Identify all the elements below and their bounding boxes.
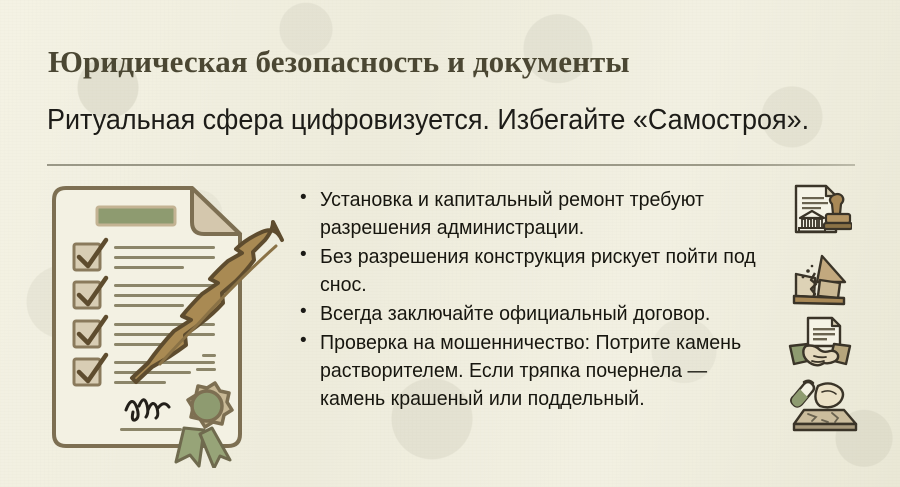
- doc-line: [114, 381, 166, 384]
- document-folded-corner: [192, 188, 240, 234]
- house-base: [794, 296, 844, 304]
- doc-line: [114, 371, 191, 374]
- doc-line: [114, 333, 215, 336]
- list-item: • Установка и капитальный ремонт требуют…: [300, 186, 778, 242]
- document-folded-corner: [832, 318, 840, 326]
- test-tube: [791, 381, 814, 407]
- solvent-test-icon: [788, 378, 860, 441]
- stone-slab: [794, 410, 856, 430]
- bullet-marker: •: [300, 186, 320, 198]
- bullet-marker: •: [300, 329, 320, 341]
- doc-line: [114, 256, 215, 259]
- page-title: Юридическая безопасность и документы: [48, 44, 630, 80]
- bullet-text: Установка и капитальный ремонт требуют р…: [320, 186, 757, 242]
- house-roof: [817, 256, 845, 282]
- doc-line: [202, 354, 216, 357]
- checklist-document-illustration: [44, 178, 300, 473]
- house-wall-right: [818, 280, 840, 298]
- signature-line: [120, 428, 182, 431]
- list-item: • Без разрешения конструкция рискует пой…: [300, 243, 778, 299]
- doc-line: [114, 284, 215, 287]
- header-divider: [47, 164, 855, 166]
- permit-stamp-icon: [788, 182, 852, 245]
- bullet-text: Всегда заключайте официальный договор.: [320, 300, 757, 328]
- doc-line: [114, 304, 184, 307]
- document-header-bar: [97, 207, 175, 225]
- list-item: • Проверка на мошенничество: Потрите кам…: [300, 329, 778, 413]
- contract-handshake-icon: [788, 316, 852, 377]
- doc-line: [114, 266, 184, 269]
- cloth-rag: [815, 383, 843, 407]
- bullet-marker: •: [300, 300, 320, 312]
- bullet-text: Без разрешения конструкция рискует пойти…: [320, 243, 757, 299]
- page-subtitle: Ритуальная сфера цифровизуется. Избегайт…: [47, 104, 809, 137]
- doc-line: [114, 246, 215, 249]
- infographic-slide: Юридическая безопасность и документы Рит…: [0, 0, 900, 487]
- doc-line: [196, 368, 216, 371]
- demolished-house-icon: [788, 252, 852, 315]
- bullet-text: Проверка на мошенничество: Потрите камен…: [320, 329, 757, 413]
- seal-center: [192, 391, 222, 421]
- list-item: • Всегда заключайте официальный договор.: [300, 300, 778, 328]
- bullet-list: • Установка и капитальный ремонт требуют…: [300, 186, 778, 414]
- bullet-marker: •: [300, 243, 320, 255]
